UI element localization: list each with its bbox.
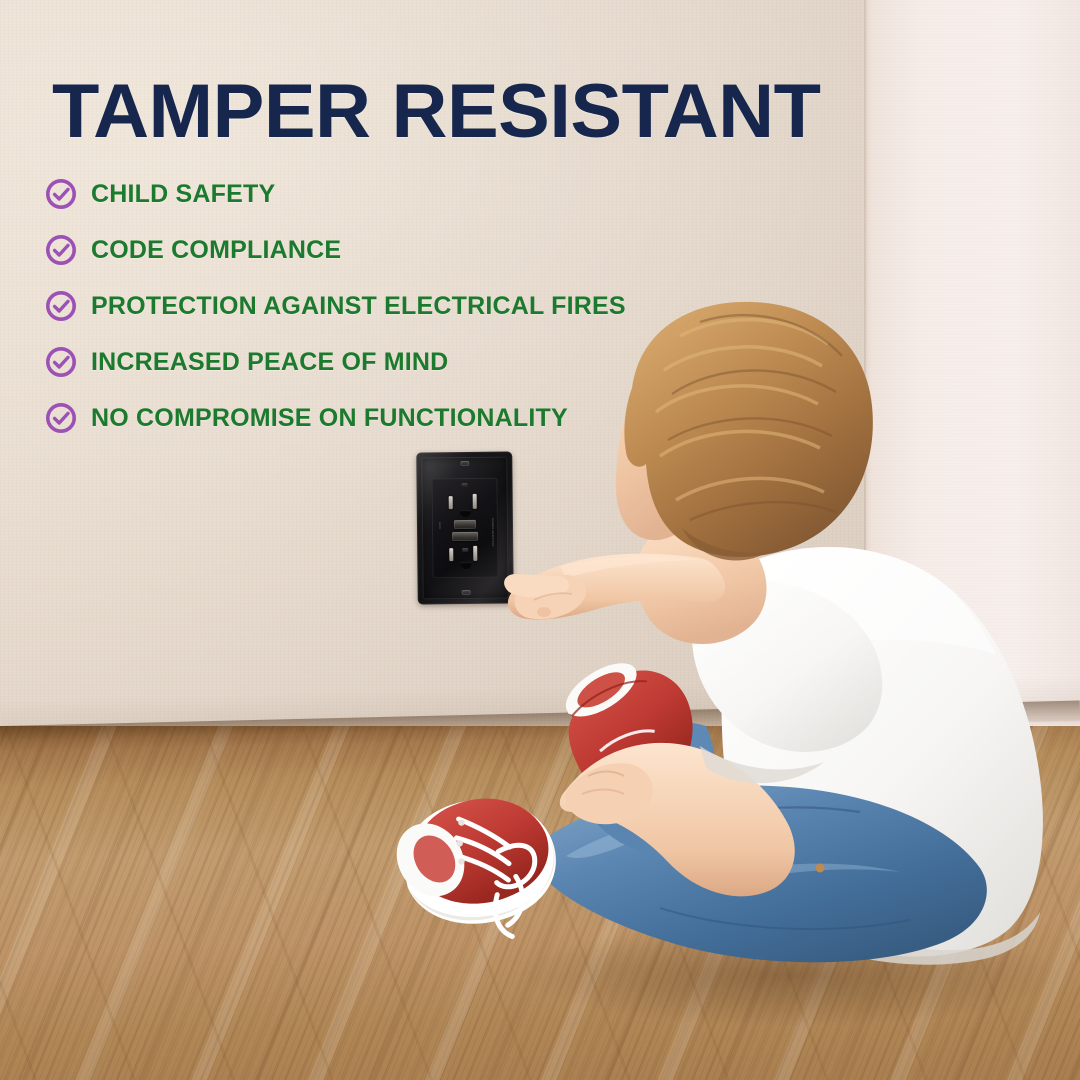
feature-list: CHILD SAFETY CODE COMPLIANCE PROTECTION … [44, 166, 764, 446]
page-title: TAMPER RESISTANT [52, 74, 820, 150]
list-item: INCREASED PEACE OF MIND [44, 334, 764, 390]
list-item: CODE COMPLIANCE [44, 222, 764, 278]
check-circle-icon [44, 345, 78, 379]
socket-ground-upper [460, 510, 471, 517]
check-circle-icon [44, 233, 78, 267]
outlet-wall-plate: GFCI TAMPER RESISTANT [416, 452, 514, 605]
list-item: PROTECTION AGAINST ELECTRICAL FIRES [44, 278, 764, 334]
list-item: NO COMPROMISE ON FUNCTIONALITY [44, 390, 764, 446]
product-infographic-scene: GFCI TAMPER RESISTANT [0, 0, 1080, 1080]
list-item-label: NO COMPROMISE ON FUNCTIONALITY [91, 404, 568, 433]
gfci-outlet[interactable]: GFCI TAMPER RESISTANT [416, 452, 514, 605]
socket-blade-neutral-upper [449, 496, 453, 509]
outlet-receptacle-body: GFCI TAMPER RESISTANT [431, 478, 498, 579]
socket-blade-hot-upper [473, 494, 477, 509]
gfci-reset-button[interactable] [452, 532, 478, 541]
plate-screw-top [460, 461, 469, 466]
list-item-label: CODE COMPLIANCE [91, 236, 341, 265]
socket-blade-neutral-lower [449, 548, 453, 561]
list-item-label: CHILD SAFETY [91, 180, 275, 209]
list-item-label: PROTECTION AGAINST ELECTRICAL FIRES [91, 292, 626, 321]
gfci-test-button[interactable] [454, 520, 476, 529]
outlet-side-text-right: TAMPER RESISTANT [491, 518, 494, 547]
outlet-side-text-left: GFCI [438, 522, 441, 529]
plate-screw-bottom [461, 590, 470, 595]
outlet-socket-lower[interactable] [432, 546, 498, 569]
socket-blade-hot-lower [473, 546, 477, 561]
list-item: CHILD SAFETY [44, 166, 764, 222]
check-circle-icon [44, 401, 78, 435]
check-circle-icon [44, 289, 78, 323]
receptacle-screw-top [462, 483, 468, 487]
hardwood-floor [0, 726, 1080, 1080]
socket-ground-lower [460, 562, 471, 569]
check-circle-icon [44, 177, 78, 211]
outlet-socket-upper[interactable] [432, 494, 498, 517]
list-item-label: INCREASED PEACE OF MIND [91, 348, 448, 377]
